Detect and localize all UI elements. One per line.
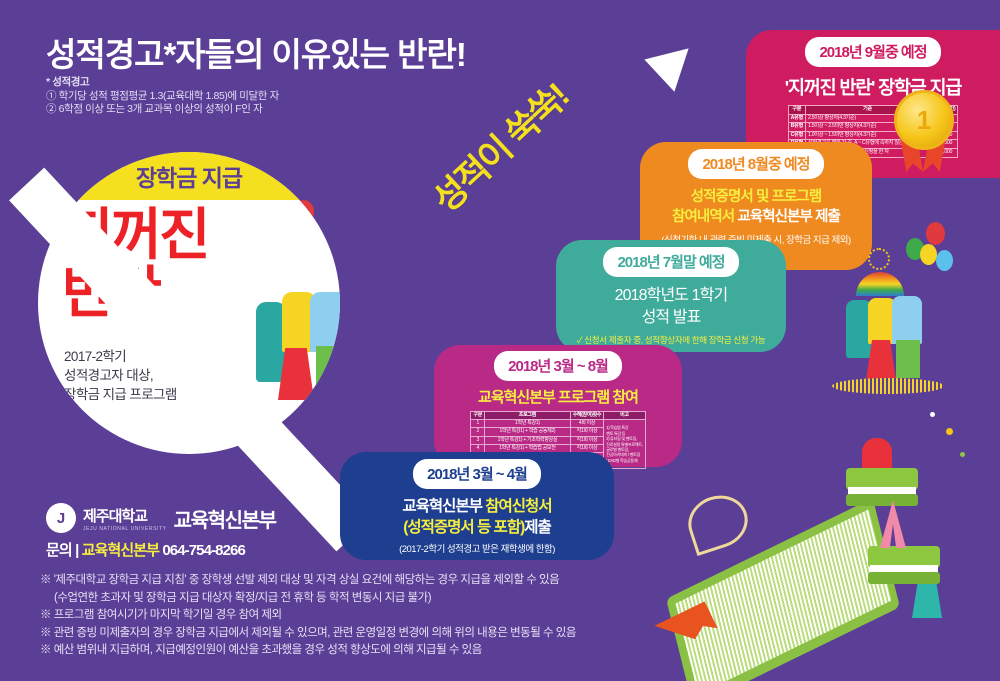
step-march-headline-2b: 제출 [524,519,551,536]
contact-prefix: 문의 | [46,542,82,559]
disclaimer-line-3: ※ 프로그램 참여시기가 마지막 학기일 경우 참여 제외 [40,607,970,625]
footer-logo: J 제주대학교 JEJU NATIONAL UNIVERSITY 교육혁신본부 [46,503,276,533]
step-march-headline-1b: 참여신청서 [485,498,551,515]
sun-icon [868,248,890,270]
contact-line: 문의 | 교육혁신본부 064-754-8266 [46,539,245,560]
cell-program: 1학년 특강1) + 기초학력향상실 [485,436,571,444]
step-march-note: (2017-2학기 성적경고 받은 재학생에 한함) [340,541,614,555]
step-july-date: 2018년 7월말 예정 [603,247,738,277]
step-march-headline-1a: 교육혁신본부 [402,498,485,515]
sparkle-dot [946,428,953,435]
step-august-headline-2b: 교육혁신본부 제출 [737,209,840,225]
medal-icon: 1 [885,90,963,176]
hero-banner: 장학금 지급 [38,152,340,200]
step-july-headline-2: 성적 발표 [556,307,786,329]
cell-no: 2 [471,428,485,436]
hero-subtitle-line3: 장학금 지급 프로그램 [64,385,177,404]
cell-no: 1 [471,420,485,428]
step-card-july[interactable]: 2018년 7월말 예정 2018학년도 1학기 성적 발표 ✓ 신청서 제출자… [556,240,786,352]
department-name: 교육혁신본부 [174,504,276,533]
disclaimer-line-4: ※ 관련 증빙 미제출자의 경우 장학금 지급에서 제외될 수 있으며, 관련 … [40,625,970,643]
scholarship-col-0: 구분 [788,106,805,115]
figure-right-lightblue [892,296,922,344]
footnote-item-2: ② 6학점 이상 또는 3개 교과목 이상의 성적이 F인 자 [46,103,279,117]
balloon-yellow-right [920,244,937,265]
cell-count: 각1회 이상 [570,428,604,436]
footnote-block: * 성적경고 ① 학기당 성적 평점평균 1.3(교육대학 1.85)에 미달한… [46,76,279,117]
cell-type: A유형 [788,114,805,123]
cell-no: 3 [471,436,485,444]
disclaimer-line-1: ※ '제주대학교 장학금 지급 지침' 중 장학생 선발 제외 대상 및 자격 … [40,572,970,590]
university-name: 제주대학교 JEJU NATIONAL UNIVERSITY [83,505,167,532]
disclaimer-line-2: (수업연한 초과자 및 장학금 지급 대상자 확정/지급 전 휴학 등 학적 변… [40,590,970,608]
hero-banner-label: 장학금 지급 [136,159,242,193]
step-card-march[interactable]: 2018년 3월 ~ 4월 교육혁신본부 참여신청서 (성적증명서 등 포함)제… [340,452,614,560]
disclaimer-line-5: ※ 예산 범위내 지급하며, 지급예정인원이 예산을 초과했을 경우 성적 향상… [40,642,970,660]
cell-type: B유형 [788,123,805,132]
balloon-red-right [926,222,945,245]
cell-program: 1학년 특강1) + 학습 공동체2) [485,428,571,436]
table-row: 1 1학년 특강1) 4회 이상 1) 학습법 특강 멘토 특강 등 2) 튜터… [471,420,645,428]
growth-arrow-label: 성적이 쑥쑥! [420,70,578,222]
cell-type: C유형 [788,131,805,140]
step-august-date: 2018년 8월중 예정 [688,149,823,179]
figure-right-green-pants [896,340,920,378]
contact-phone: 064-754-8266 [159,542,245,559]
hero-subtitle-line2: 성적경고자 대상, [64,366,177,385]
sparkle-dot [960,452,965,457]
program-col-0: 구분 [471,412,485,420]
figure-green-pants [316,346,340,392]
cell-count: 각1회 이상 [570,436,604,444]
balloon-blue-right [936,250,953,271]
step-september-date: 2018년 9월중 예정 [805,37,940,67]
program-col-3: 비고 [604,412,645,420]
university-emblem-icon: J [46,503,76,533]
medal-number: 1 [894,90,954,150]
step-august-headline-1: 성적증명서 및 프로그램 [640,187,872,207]
cell-program: 1학년 특강1) [485,420,571,428]
step-card-program[interactable]: 2018년 3월 ~ 8월 교육혁신본부 프로그램 참여 구분 프로그램 수혜(… [434,345,682,467]
ground-stripe [832,378,944,394]
sparkle-dot [930,412,935,417]
page-title: 성적경고*자들의 이유있는 반란! [46,28,466,76]
footnote-label: * 성적경고 [46,76,279,90]
poster-root: 성적경고*자들의 이유있는 반란! * 성적경고 ① 학기당 성적 평점평균 1… [0,0,1000,681]
step-program-date: 2018년 3월 ~ 8월 [494,351,622,381]
rainbow-icon [856,272,904,296]
figure-book-red [862,438,892,468]
program-col-1: 프로그램 [485,412,571,420]
step-march-headline-2a: (성적증명서 등 포함) [403,519,524,536]
cell-count: 4회 이상 [570,420,604,428]
growth-arrow-head [644,32,703,91]
footnote-item-1: ① 학기당 성적 평점평균 1.3(교육대학 1.85)에 미달한 자 [46,90,279,104]
figure-lightblue [310,292,340,352]
step-july-headline-1: 2018학년도 1학기 [556,285,786,307]
step-program-headline: 교육혁신본부 프로그램 참여 [434,386,682,407]
contact-department: 교육혁신본부 [82,542,159,559]
program-col-2: 수혜(참여)횟수 [570,412,604,420]
step-march-date: 2018년 3월 ~ 4월 [413,459,541,489]
hero-circle: 장학금 지급 지꺼진 반란 2017-2학기 성적경고자 대상, 장학금 지급 … [38,152,340,454]
disclaimer-block: ※ '제주대학교 장학금 지급 지침' 중 장학생 선발 제외 대상 및 자격 … [40,572,970,660]
university-name-en: JEJU NATIONAL UNIVERSITY [83,526,167,532]
step-august-headline-2a: 참여내역서 [672,209,737,225]
swirl-decor [681,488,754,556]
small-book-upper [846,468,918,508]
